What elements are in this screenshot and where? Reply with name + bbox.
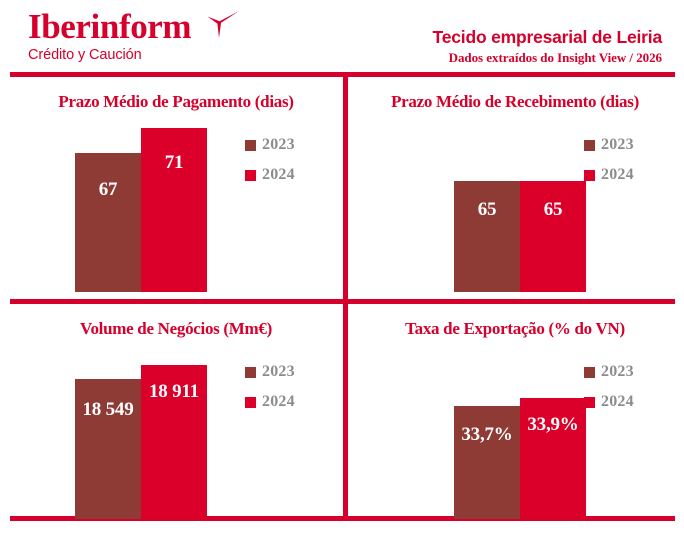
chart-plot-area: 65 65 (348, 118, 594, 292)
brand-wordmark: Iberinform (28, 8, 191, 46)
chart-legend: 2023 2024 (245, 357, 337, 417)
legend-label-2024: 2024 (601, 393, 634, 411)
bar-value-2023: 65 (454, 199, 520, 221)
bar-2023: 67 (75, 153, 141, 292)
chart-title: Taxa de Exportação (% do VN) (348, 319, 682, 339)
chart-title: Prazo Médio de Pagamento (dias) (9, 92, 343, 112)
bar-group: 65 65 (454, 118, 586, 292)
bar-value-2024: 71 (141, 152, 207, 174)
legend-label-2024: 2024 (262, 393, 295, 411)
bar-group: 33,7% 33,9% (454, 345, 586, 519)
page-subtitle: Dados extraídos do Insight View / 2026 (242, 49, 662, 67)
chart-title: Prazo Médio de Recebimento (dias) (348, 92, 682, 112)
bar-value-2024: 33,9% (520, 414, 586, 436)
report-heading: Tecido empresarial de Leiria Dados extra… (242, 26, 662, 67)
bar-2024: 65 (520, 181, 586, 292)
bar-2023: 18 549 (75, 379, 141, 519)
chart-plot-area: 18 549 18 911 (9, 345, 255, 519)
legend-item-2024: 2024 (245, 387, 337, 417)
legend-item-2023: 2023 (245, 357, 337, 387)
legend-item-2024: 2024 (584, 160, 676, 190)
chart-plot-area: 67 71 (9, 118, 255, 292)
legend-item-2023: 2023 (584, 357, 676, 387)
legend-item-2024: 2024 (584, 387, 676, 417)
chart-panel-export-rate: Taxa de Exportação (% do VN) 2023 2024 3… (348, 305, 682, 519)
bar-group: 67 71 (75, 118, 207, 292)
legend-label-2023: 2023 (262, 136, 295, 154)
chart-legend: 2023 2024 (584, 357, 676, 417)
legend-label-2024: 2024 (601, 166, 634, 184)
bar-value-2023: 33,7% (454, 424, 520, 446)
legend-label-2023: 2023 (601, 136, 634, 154)
chart-legend: 2023 2024 (245, 130, 337, 190)
bar-value-2024: 65 (520, 199, 586, 221)
legend-label-2023: 2023 (262, 363, 295, 381)
legend-label-2023: 2023 (601, 363, 634, 381)
chart-legend: 2023 2024 (584, 130, 676, 190)
chart-panel-turnover: Volume de Negócios (Mm€) 2023 2024 18 54… (9, 305, 343, 519)
bar-2024: 71 (141, 128, 207, 292)
bar-value-2023: 18 549 (75, 399, 141, 421)
legend-item-2024: 2024 (245, 160, 337, 190)
bar-2024: 33,9% (520, 398, 586, 519)
chart-title: Volume de Negócios (Mm€) (9, 319, 343, 339)
bar-value-2023: 67 (75, 179, 141, 201)
legend-label-2024: 2024 (262, 166, 295, 184)
chart-plot-area: 33,7% 33,9% (348, 345, 594, 519)
bar-group: 18 549 18 911 (75, 345, 207, 519)
bar-2023: 33,7% (454, 406, 520, 519)
bar-value-2024: 18 911 (141, 381, 207, 403)
legend-item-2023: 2023 (584, 130, 676, 160)
page-header: Iberinform Crédito y Caución Tecido empr… (0, 0, 684, 72)
bar-2024: 18 911 (141, 365, 207, 519)
iberinform-swoosh-icon (206, 10, 240, 40)
page-title: Tecido empresarial de Leiria (242, 26, 662, 48)
chart-panel-payment-period: Prazo Médio de Pagamento (dias) 2023 202… (9, 78, 343, 292)
bar-2023: 65 (454, 181, 520, 292)
legend-item-2023: 2023 (245, 130, 337, 160)
chart-panel-receivable-period: Prazo Médio de Recebimento (dias) 2023 2… (348, 78, 682, 292)
